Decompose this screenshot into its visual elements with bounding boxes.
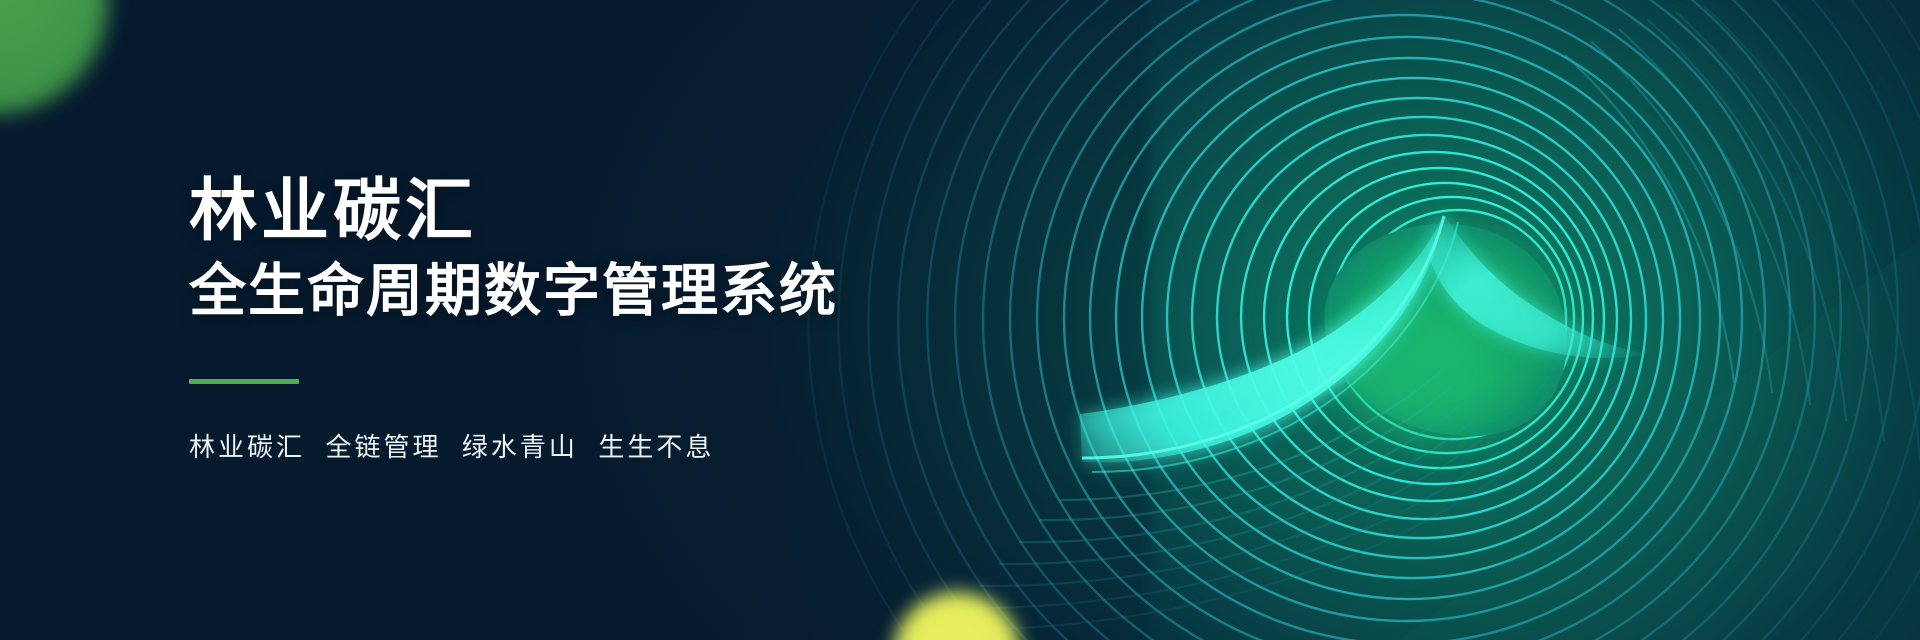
accent-divider [189, 379, 299, 384]
banner-copy: 林业碳汇 全生命周期数字管理系统 林业碳汇 全链管理 绿水青山 生生不息 [189, 0, 1009, 640]
page-subtitle: 全生命周期数字管理系统 [189, 261, 1009, 323]
tagline: 林业碳汇 全链管理 绿水青山 生生不息 [189, 432, 1009, 463]
page-title: 林业碳汇 [189, 177, 1009, 245]
hero-banner: 林业碳汇 全生命周期数字管理系统 林业碳汇 全链管理 绿水青山 生生不息 [0, 0, 1920, 640]
